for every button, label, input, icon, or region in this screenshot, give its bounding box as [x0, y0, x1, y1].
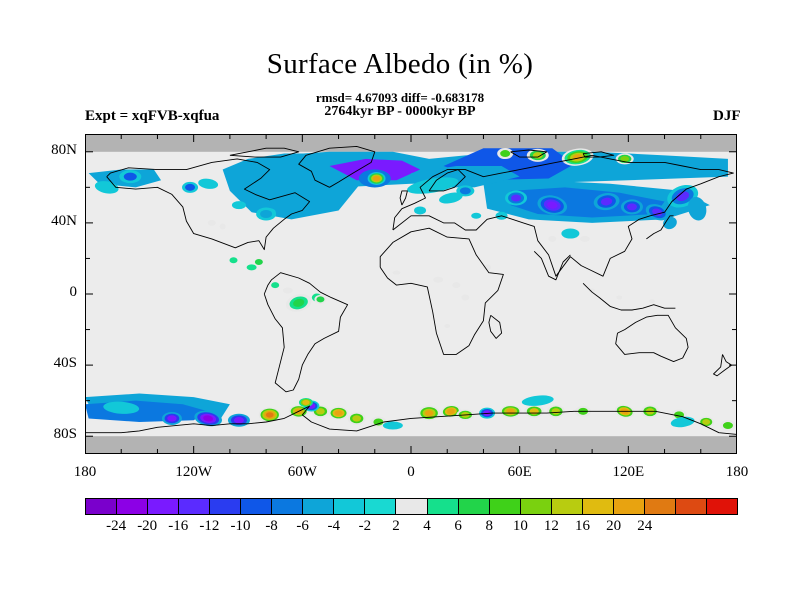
y-tick-label: 80N — [17, 142, 77, 159]
colorbar-segment[interactable] — [645, 499, 676, 514]
anomaly-patch — [723, 422, 733, 429]
colorbar-segment[interactable] — [241, 499, 272, 514]
anomaly-patch — [373, 176, 381, 182]
colorbar-segment[interactable] — [583, 499, 614, 514]
anomaly-patch — [271, 282, 279, 288]
anomaly-patch — [208, 220, 216, 226]
anomaly-patch — [167, 415, 176, 421]
anomaly-patch — [255, 259, 263, 265]
colorbar-segment[interactable] — [459, 499, 490, 514]
map-plot-area — [85, 134, 737, 454]
anomaly-patch — [302, 400, 309, 405]
colorbar-segment[interactable] — [272, 499, 303, 514]
anomaly-patch — [247, 264, 257, 270]
colorbar-segment[interactable] — [396, 499, 427, 514]
anomaly-patch — [548, 236, 556, 242]
world-map — [85, 134, 737, 454]
anomaly-patch — [335, 410, 343, 416]
anomaly-patch — [702, 419, 710, 425]
anomaly-patch — [185, 184, 195, 191]
figure-canvas: Surface Albedo (in %) rmsd= 4.67093 diff… — [0, 0, 800, 600]
colorbar-tick-label: 24 — [615, 518, 675, 535]
colorbar-segment[interactable] — [521, 499, 552, 514]
x-tick-label: 180 — [45, 464, 125, 481]
anomaly-patch — [452, 282, 460, 288]
colorbar-segment[interactable] — [303, 499, 334, 514]
anomaly-patch — [283, 287, 293, 293]
anomaly-patch — [414, 206, 426, 214]
anomaly-patch — [552, 408, 561, 414]
anomaly-patch — [461, 295, 469, 301]
anomaly-patch — [232, 201, 246, 209]
x-tick-label: 0 — [371, 464, 451, 481]
colorbar-segment[interactable] — [552, 499, 583, 514]
anomaly-patch — [580, 236, 590, 242]
x-tick-label: 60E — [480, 464, 560, 481]
colorbar-segment[interactable] — [365, 499, 396, 514]
anomaly-patch — [627, 203, 637, 210]
anomaly-patch — [124, 173, 137, 181]
anomaly-patch — [444, 324, 450, 328]
anomaly-patch — [460, 187, 471, 194]
colorbar-segment[interactable] — [490, 499, 521, 514]
anomaly-patch — [220, 223, 226, 229]
y-tick-label: 40S — [17, 355, 77, 372]
anomaly-patch — [649, 299, 655, 303]
anomaly-patch — [352, 415, 361, 421]
anomaly-patch — [500, 150, 510, 157]
anomaly-patch — [616, 296, 622, 300]
anomaly-patch — [433, 277, 443, 283]
anomaly-patch — [471, 213, 481, 219]
x-tick-label: 60W — [262, 464, 342, 481]
colorbar-segment[interactable] — [148, 499, 179, 514]
anomaly-patch — [230, 257, 238, 263]
colorbar-segment[interactable] — [179, 499, 210, 514]
colorbar-segment[interactable] — [334, 499, 365, 514]
y-tick-label: 0 — [17, 284, 77, 301]
y-tick-label: 80S — [17, 426, 77, 443]
x-tick-label: 120W — [154, 464, 234, 481]
season-label: DJF — [713, 108, 741, 125]
anomaly-patch — [511, 195, 521, 202]
x-tick-label: 180 — [697, 464, 777, 481]
anomaly-patch — [425, 410, 434, 416]
colorbar[interactable] — [85, 498, 738, 515]
x-tick-label: 120E — [588, 464, 668, 481]
anomaly-patch — [316, 296, 324, 302]
anomaly-patch — [561, 229, 579, 239]
colorbar-segment[interactable] — [614, 499, 645, 514]
page-title: Surface Albedo (in %) — [0, 48, 800, 81]
anomaly-patch — [234, 417, 244, 423]
anomaly-patch — [393, 271, 401, 275]
anomaly-patch — [260, 210, 272, 218]
y-tick-label: 40N — [17, 213, 77, 230]
anomaly-patch — [383, 422, 403, 430]
colorbar-segment[interactable] — [676, 499, 707, 514]
colorbar-segment[interactable] — [86, 499, 117, 514]
colorbar-segment[interactable] — [117, 499, 148, 514]
colorbar-segment[interactable] — [707, 499, 737, 514]
colorbar-segment[interactable] — [210, 499, 241, 514]
experiment-label: Expt = xqFVB-xqfua — [85, 108, 219, 125]
colorbar-segment[interactable] — [428, 499, 459, 514]
anomaly-patch — [266, 412, 274, 417]
